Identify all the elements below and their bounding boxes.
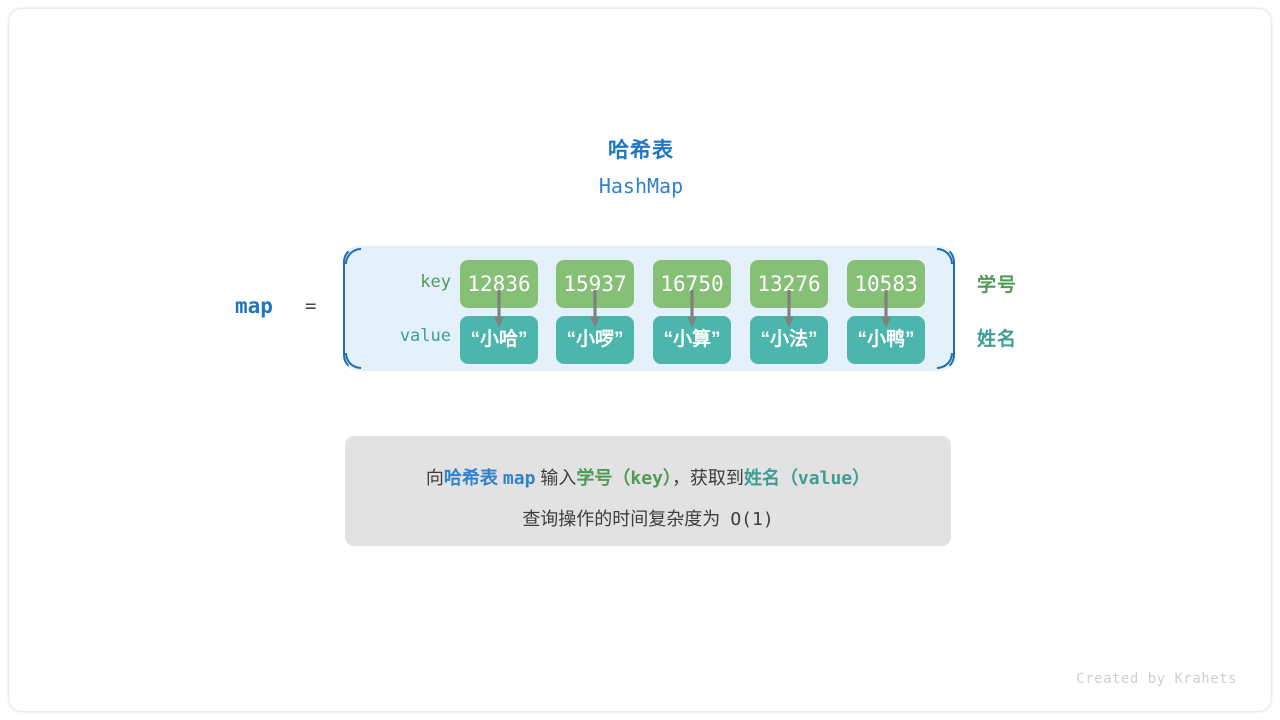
bracket-right-icon: [937, 246, 955, 371]
credit-label: Created by Krahets: [1076, 671, 1237, 687]
caption-seg-get: ，获取到: [672, 468, 744, 488]
caption-seg-plain: 向: [426, 468, 444, 488]
caption-seg-key-en: （key）: [612, 468, 672, 489]
bucket-column: 10583 “小鸭”: [847, 246, 925, 371]
hash-table-container: key value 12836 “小哈” 15937 “小啰”: [343, 246, 955, 371]
caption-seg-hashmap-cn: 哈希表: [444, 468, 498, 488]
caption-seg-input: 输入: [540, 468, 576, 488]
key-to-value-arrow-icon: [590, 290, 600, 330]
caption-line-1: 向哈希表 map 输入学号（key），获取到姓名（value）: [345, 458, 951, 499]
caption-line-2: 查询操作的时间复杂度为 O(1): [345, 499, 951, 540]
bracket-left-icon: [343, 246, 361, 371]
bucket-column: 12836 “小哈”: [460, 246, 538, 371]
value-annotation-label: 姓名: [977, 324, 1017, 351]
page-title: 哈希表: [9, 137, 1272, 165]
bucket-column: 15937 “小啰”: [556, 246, 634, 371]
bucket-column: 16750 “小算”: [653, 246, 731, 371]
key-annotation-label: 学号: [977, 270, 1017, 297]
key-to-value-arrow-icon: [494, 290, 504, 330]
caption-box: 向哈希表 map 输入学号（key），获取到姓名（value） 查询操作的时间复…: [345, 436, 951, 546]
key-to-value-arrow-icon: [784, 290, 794, 330]
variable-name-label: map: [235, 294, 273, 318]
caption-complexity-value: O(1): [730, 509, 773, 530]
bucket-column: 13276 “小法”: [750, 246, 828, 371]
caption-seg-value-en: （value）: [780, 468, 870, 489]
caption-seg-value-cn: 姓名: [744, 468, 780, 488]
title-block: 哈希表 HashMap: [9, 137, 1272, 201]
value-row-label: value: [361, 326, 451, 346]
key-to-value-arrow-icon: [687, 290, 697, 330]
page-subtitle: HashMap: [9, 171, 1272, 201]
equals-sign: =: [305, 295, 316, 317]
key-to-value-arrow-icon: [881, 290, 891, 330]
diagram-canvas: 哈希表 HashMap map = key value 12836 “小哈” 1…: [8, 8, 1272, 712]
key-row-label: key: [361, 272, 451, 292]
caption-seg-map-var: map: [503, 468, 536, 489]
caption-seg-key-cn: 学号: [576, 468, 612, 488]
caption-complexity-text: 查询操作的时间复杂度为: [522, 509, 720, 529]
